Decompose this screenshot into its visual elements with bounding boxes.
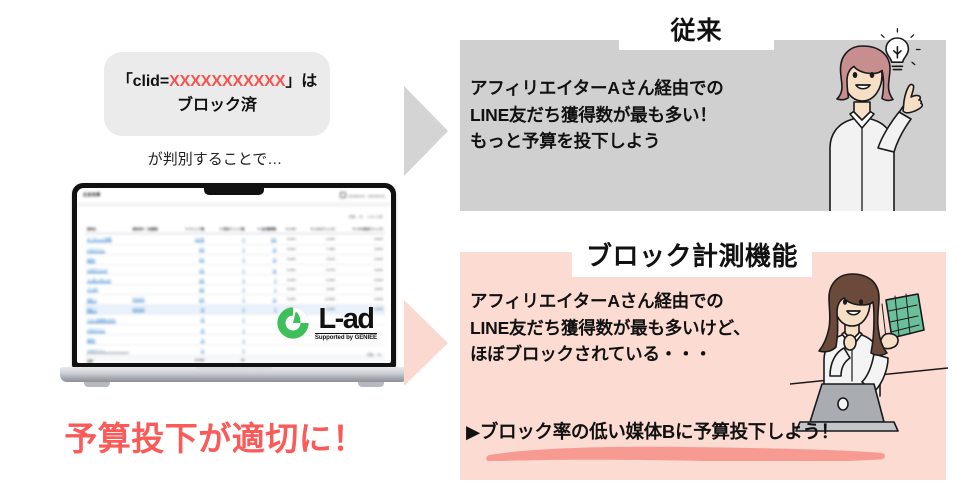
cell-name[interactable]: 媒体_T — [85, 294, 131, 304]
cell-valid[interactable]: 0 — [206, 264, 246, 274]
panel-block-measurement-body: アフィリエイターAさん経由での LINE友だち獲得数が最も多いけど、 ほぼブロッ… — [470, 288, 750, 368]
table-row[interactable]: LPのDテスト170 — [85, 345, 385, 355]
cell-id[interactable] — [131, 285, 175, 294]
cell-cvr: 0.00% — [278, 285, 297, 294]
total-cell-2: 17,606 — [175, 355, 207, 363]
cell-cvr_c — [298, 345, 337, 355]
highlight-brush-stroke — [486, 444, 886, 461]
clid-masked-value: XXXXXXXXXXX — [169, 73, 285, 90]
cell-cv[interactable]: 34 — [247, 244, 279, 254]
pager-range: 1-13 / 13件 — [367, 215, 383, 219]
cell-cvr_c: 4.51% — [298, 254, 337, 264]
cell-cv[interactable] — [247, 314, 279, 324]
clid-prefix-text: 「clid= — [117, 73, 169, 90]
cell-cvr_v: 0.00% — [337, 254, 385, 264]
cell-name[interactable]: YT_用_LINE_List — [85, 275, 131, 285]
cell-cvr — [278, 345, 297, 355]
cell-name[interactable]: 媒体_T — [85, 304, 131, 314]
cell-name[interactable]: LPのBテストD — [85, 264, 131, 274]
cell-clicks[interactable]: 14,485 — [175, 234, 207, 244]
effect-table-header-row: 媒体名媒体別ID（従業員）⇅ クリック数⇅ 有効クリック数⇅ 合計獲得数⇅ CV… — [85, 224, 385, 234]
total-cell-0: 合計 — [85, 355, 131, 363]
cell-clicks[interactable]: 160 — [175, 285, 207, 294]
cell-cvr_v: 0.00% — [337, 234, 385, 244]
lad-logo-tagline: Supported by GENIEE — [315, 333, 377, 341]
cell-cv[interactable]: 22 — [247, 264, 279, 274]
cell-cvr_c: 8.47% — [298, 264, 337, 274]
cell-valid[interactable]: 0 — [206, 234, 246, 244]
cell-clicks[interactable]: 44 — [175, 335, 207, 345]
cell-cvr_c: 0.00% — [298, 275, 337, 285]
laptop-base — [60, 367, 408, 382]
laptop-screen: 広告効果 2024/01/01 - 2024/01/31 件数： 50 1-13… — [77, 188, 391, 363]
horizontal-scrollbar[interactable] — [87, 352, 129, 354]
dashboard-pager-top: 件数： 50 1-13 / 13件 — [349, 214, 383, 219]
total-cell-6 — [298, 355, 337, 363]
cash-fan-icon — [882, 294, 924, 338]
laptop-lid: 広告効果 2024/01/01 - 2024/01/31 件数： 50 1-13… — [72, 183, 396, 368]
cell-name[interactable]: LPのCテスト — [85, 325, 131, 335]
table-row[interactable]: YT_用_LINE_List200000.00%0.00%0.00% — [85, 275, 385, 285]
lad-logo-text: L-ad Supported by GENIEE — [315, 306, 377, 341]
cell-valid[interactable]: 0 — [206, 335, 246, 345]
cell-clicks[interactable]: 17 — [175, 345, 207, 355]
cell-cv[interactable]: 1 — [247, 285, 279, 294]
bottom-headline: 予算投下が適切に！ — [0, 412, 430, 460]
cell-id[interactable] — [131, 314, 175, 324]
cell-clicks[interactable]: 94 — [175, 304, 207, 314]
laptop-foot-left — [84, 382, 110, 387]
table-row[interactable]: LPのAテスト6340340.00%7.38%0.00% — [85, 244, 385, 254]
cell-valid[interactable]: 0 — [206, 345, 246, 355]
dashboard-date-range: 2024/01/01 - 2024/01/31 — [340, 192, 385, 199]
cell-clicks[interactable]: 421 — [175, 254, 207, 264]
cell-cvr_v: 0.00% — [337, 264, 385, 274]
effect-table-col-6[interactable]: ⇅ CVR(クリック) — [298, 224, 337, 234]
lad-logo-mark-icon — [276, 306, 310, 340]
total-cell-5 — [278, 355, 297, 363]
per-page-label: 件数： — [349, 215, 359, 219]
per-page-value[interactable]: 50 — [359, 215, 363, 219]
effect-table-col-2[interactable]: ⇅ クリック数 — [175, 224, 207, 234]
cell-cvr: 0.00% — [278, 244, 297, 254]
cell-id[interactable] — [131, 244, 175, 254]
effect-table-col-5[interactable]: ⇅ CVR — [278, 224, 297, 234]
laptop-mockup: 広告効果 2024/01/01 - 2024/01/31 件数： 50 1-13… — [60, 183, 408, 395]
cell-cvr_c: 0.00% — [298, 234, 337, 244]
cell-cvr: 0.00% — [278, 234, 297, 244]
cell-valid[interactable]: 0 — [206, 304, 246, 314]
cell-id[interactable] — [131, 275, 175, 285]
laptop-camera-notch — [204, 188, 264, 195]
cell-name[interactable]: 媒体H — [85, 335, 131, 345]
judgement-caption: が判別することで… — [0, 148, 430, 169]
slide-canvas: 「clid=XXXXXXXXXXX」は ブロック済 が判別することで… 広告効果… — [0, 0, 960, 502]
cell-id[interactable] — [131, 264, 175, 274]
cell-clicks[interactable]: 48 — [175, 325, 207, 335]
lad-logo: L-ad Supported by GENIEE — [276, 306, 377, 341]
cell-name[interactable]: テスト用媒体000001 — [85, 314, 131, 324]
cell-valid[interactable]: 0 — [206, 285, 246, 294]
table-total-row: 合計17,60660 — [85, 355, 385, 363]
effect-table-col-4[interactable]: ⇅ 合計獲得数 — [247, 224, 279, 234]
dashboard-title: 広告効果 — [83, 192, 101, 198]
panel-block-measurement-tab: ブロック計測機能 — [572, 231, 812, 277]
cell-id[interactable] — [131, 325, 175, 335]
cell-cv[interactable]: 224 — [247, 234, 279, 244]
clid-callout-line-1: 「clid=XXXXXXXXXXX」は — [117, 71, 317, 93]
effect-table-col-7[interactable]: ⇅ CVR(有効クリック) — [337, 224, 385, 234]
cell-clicks[interactable]: 143 — [175, 294, 207, 304]
effect-table-col-3[interactable]: ⇅ 有効クリック数 — [206, 224, 246, 234]
table-row[interactable]: 媒体B4210120.00%4.51%0.00% — [85, 254, 385, 264]
cell-cv[interactable]: 12 — [247, 294, 279, 304]
arrow-right-gray-icon — [404, 86, 448, 176]
cell-cvr: 0.00% — [278, 254, 297, 264]
cell-valid[interactable]: 0 — [206, 275, 246, 285]
table-row[interactable]: YT_004160010.00%0.00%0.00% — [85, 285, 385, 294]
cell-cvr_c: 7.38% — [298, 244, 337, 254]
panel-block-measurement-conclusion: ▶ブロック率の低い媒体Bに予算投下しよう！ — [466, 418, 839, 446]
clid-callout-line-2: ブロック済 — [177, 95, 257, 117]
effect-table-col-0[interactable]: 媒体名 — [85, 224, 131, 234]
cell-valid[interactable]: 0 — [206, 294, 246, 304]
cell-cvr_c: 0.00% — [298, 285, 337, 294]
panel-conventional-body: アフィリエイターAさん経由での LINE友だち獲得数が最も多い！ もっと予算を投… — [470, 75, 724, 155]
panel-conventional-tab: 従来 — [619, 8, 774, 50]
footer-per-page-value[interactable]: 50 — [377, 353, 381, 357]
laptop-foot-right — [358, 382, 384, 387]
cell-valid[interactable]: 0 — [206, 325, 246, 335]
illustration-woman-pointing — [800, 28, 950, 211]
cell-name[interactable]: オーガニック検索 — [85, 234, 131, 244]
cell-id[interactable] — [131, 254, 175, 264]
cell-cv[interactable] — [247, 345, 279, 355]
dashboard-subnav — [77, 202, 391, 207]
cell-valid[interactable]: 0 — [206, 244, 246, 254]
cell-clicks[interactable]: 200 — [175, 275, 207, 285]
cell-cv[interactable]: 0 — [247, 304, 279, 314]
cell-cv[interactable]: 0 — [247, 275, 279, 285]
cell-id[interactable]: 0000000 — [131, 304, 175, 314]
cell-clicks[interactable]: 273 — [175, 264, 207, 274]
table-row[interactable]: オーガニック検索14,48502240.00%0.00%0.00% — [85, 234, 385, 244]
cell-name[interactable]: YT_004 — [85, 285, 131, 294]
arrow-right-pink-icon — [404, 300, 448, 386]
cell-clicks[interactable]: 634 — [175, 244, 207, 254]
illustration-woman-with-cash — [790, 264, 948, 440]
footer-per-page-label: 件数： — [367, 353, 377, 357]
clid-block-callout: 「clid=XXXXXXXXXXX」は ブロック済 — [104, 52, 330, 136]
clid-suffix-text: 」は — [285, 73, 317, 90]
table-row[interactable]: LPのBテストD2730220.00%8.47%0.00% — [85, 264, 385, 274]
cell-name[interactable]: 媒体B — [85, 254, 131, 264]
cell-clicks[interactable]: 60 — [175, 314, 207, 324]
cell-cvr_v: 0.00% — [337, 285, 385, 294]
cell-id[interactable]: 0000000 — [131, 294, 175, 304]
cell-id[interactable] — [131, 335, 175, 345]
cell-name[interactable]: LPのAテスト — [85, 244, 131, 254]
cell-valid[interactable]: 0 — [206, 314, 246, 324]
total-cell-4 — [247, 355, 279, 363]
cell-cvr: 0.00% — [278, 294, 297, 304]
lad-logo-name: L-ad — [319, 306, 374, 333]
cell-cv[interactable] — [247, 335, 279, 345]
total-cell-1 — [131, 355, 175, 363]
effect-table-head: 媒体名媒体別ID（従業員）⇅ クリック数⇅ 有効クリック数⇅ 合計獲得数⇅ CV… — [85, 224, 385, 234]
effect-table-body: オーガニック検索14,48502240.00%0.00%0.00%LPのAテスト… — [85, 234, 385, 363]
cell-cv[interactable] — [247, 325, 279, 335]
cell-id[interactable] — [131, 345, 175, 355]
dashboard-pager-bottom: 件数： 50 — [367, 352, 381, 357]
cell-valid[interactable]: 0 — [206, 254, 246, 264]
total-cell-3: 60 — [206, 355, 246, 363]
effect-table-col-1[interactable]: 媒体別ID（従業員） — [131, 224, 175, 234]
cell-cv[interactable]: 12 — [247, 254, 279, 264]
cell-cvr_v: 0.00% — [337, 244, 385, 254]
effect-table: 媒体名媒体別ID（従業員）⇅ クリック数⇅ 有効クリック数⇅ 合計獲得数⇅ CV… — [85, 224, 385, 363]
cell-cvr: 0.00% — [278, 275, 297, 285]
cell-cvr: 0.00% — [278, 264, 297, 274]
cell-id[interactable] — [131, 234, 175, 244]
cell-cvr_v: 0.00% — [337, 275, 385, 285]
